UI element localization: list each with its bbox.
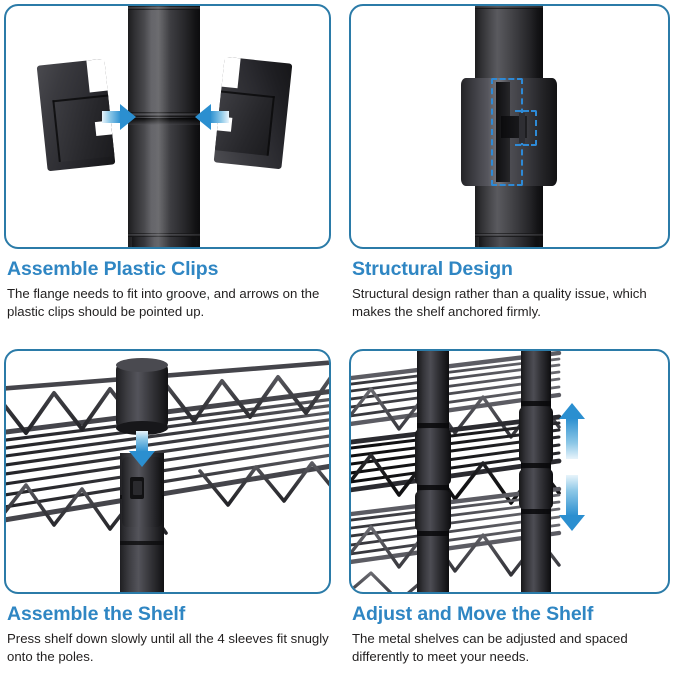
right-clip-notch <box>222 57 241 89</box>
illustration-adjust-and-move-the-shelf <box>351 351 668 592</box>
pole-upper-ring <box>128 6 200 10</box>
wire-shelving-stack-graphic <box>351 351 668 592</box>
pole-bottom-cap <box>479 237 539 247</box>
panel-body: Structural design rather than a quality … <box>352 285 671 320</box>
arrow-right-icon <box>102 104 136 130</box>
arrow-down-icon <box>559 475 585 531</box>
illustration-assemble-plastic-clips <box>6 6 329 247</box>
caption-assemble-plastic-clips: Assemble Plastic Clips The flange needs … <box>7 258 332 321</box>
arrow-left-icon <box>195 104 229 130</box>
panel-frame <box>349 4 670 249</box>
pole-bottom-cap <box>132 237 196 247</box>
panel-frame <box>349 349 670 594</box>
panel-frame <box>4 349 331 594</box>
panel-body: The flange needs to fit into groove, and… <box>7 285 332 320</box>
pole <box>128 6 200 247</box>
panel-assemble-plastic-clips: Assemble Plastic Clips The flange needs … <box>0 0 340 345</box>
illustration-assemble-the-shelf <box>6 351 329 592</box>
panel-structural-design: Structural Design Structural design rath… <box>345 0 679 345</box>
panel-title: Structural Design <box>352 258 671 280</box>
left-clip-notch <box>86 59 107 93</box>
panel-assemble-the-shelf: Assemble the Shelf Press shelf down slow… <box>0 345 340 690</box>
panel-title: Adjust and Move the Shelf <box>352 603 671 625</box>
wire-shelf-graphic <box>6 351 329 592</box>
arrow-up-icon <box>559 403 585 459</box>
panel-adjust-and-move-the-shelf: Adjust and Move the Shelf The metal shel… <box>345 345 679 690</box>
panel-body: Press shelf down slowly until all the 4 … <box>7 630 332 665</box>
panel-title: Assemble Plastic Clips <box>7 258 332 280</box>
pole-groove-shadow <box>128 118 200 125</box>
panel-body: The metal shelves can be adjusted and sp… <box>352 630 671 665</box>
panel-title: Assemble the Shelf <box>7 603 332 625</box>
pole-groove-ring <box>128 112 200 117</box>
instruction-sheet: Assemble Plastic Clips The flange needs … <box>0 0 679 690</box>
arrow-down-icon <box>129 431 155 467</box>
caption-structural-design: Structural Design Structural design rath… <box>352 258 671 321</box>
caption-assemble-the-shelf: Assemble the Shelf Press shelf down slow… <box>7 603 332 666</box>
panel-frame <box>4 4 331 249</box>
dashed-highlight-joint-mask <box>519 113 525 143</box>
pole-upper-ring <box>475 6 543 9</box>
illustration-structural-design <box>351 6 668 247</box>
caption-adjust-and-move-the-shelf: Adjust and Move the Shelf The metal shel… <box>352 603 671 666</box>
